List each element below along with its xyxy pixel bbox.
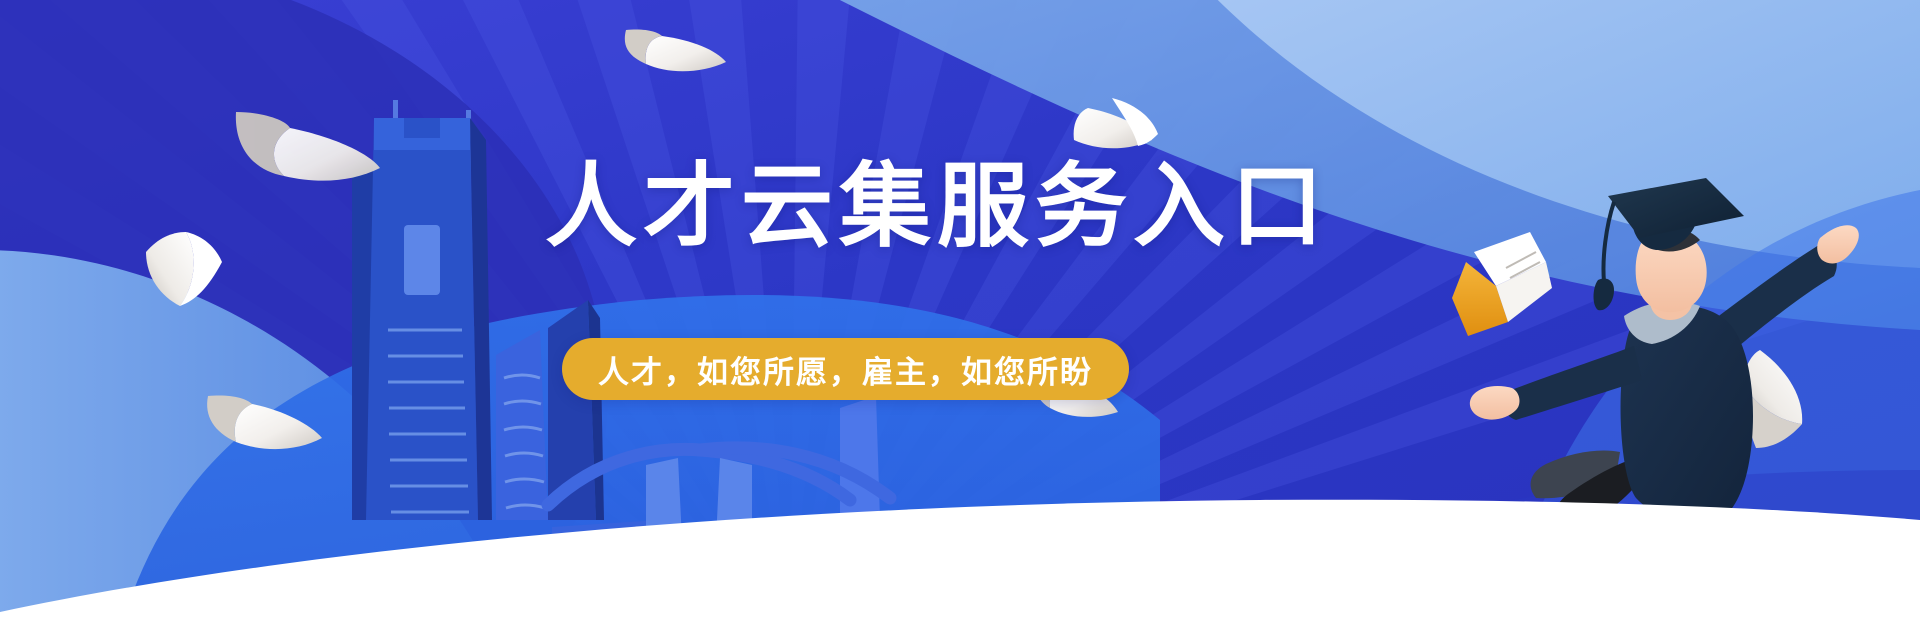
hero-banner: 人才云集服务入口 人才，如您所愿，雇主，如您所盼 [0,0,1920,630]
bottom-white-band [0,0,1920,630]
